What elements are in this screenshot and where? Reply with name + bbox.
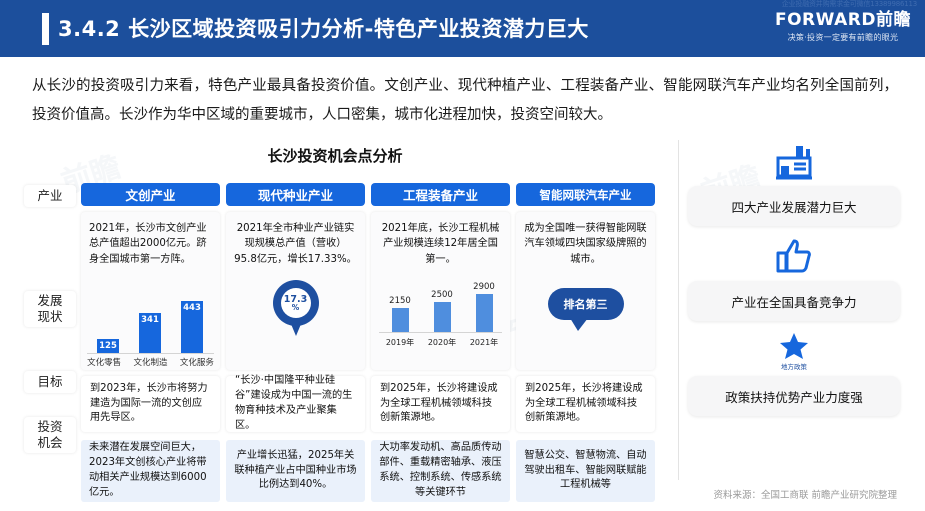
- pin-growth-unit: %: [292, 304, 300, 312]
- brand-name: FORWARD前瞻: [775, 11, 911, 30]
- bar-value-2: 2900: [467, 282, 501, 292]
- status-text: 2021年底，长沙工程机械产业规模连续12年居全国第一。: [379, 221, 502, 267]
- bar-0: [392, 308, 409, 332]
- opportunity-card: 未来潜在发展空间巨大，2023年文创核心产业将带动相关产业规模达到6000亿元。: [81, 440, 220, 502]
- factory-icon: [688, 140, 900, 182]
- pin-inner-value: 17.3 %: [281, 288, 311, 318]
- opportunity-card: 产业增长迅猛，2025年关联种植产业占中国种业市场比例达到40%。: [226, 440, 365, 502]
- bar-chart-machinery-industry: 2150 2500 2900 2019年 2020年 2021年: [379, 274, 502, 348]
- row-label-goal: 目标: [24, 371, 76, 393]
- ranking-badge-wrap: 排名第三: [516, 288, 655, 320]
- vertical-divider: [678, 140, 679, 480]
- bar-value-2: 443: [181, 303, 203, 313]
- row-label-status: 发展现状: [24, 291, 76, 327]
- row-label-opportunity: 投资机会: [24, 417, 76, 453]
- bar-value-1: 2500: [425, 290, 459, 300]
- star-icon-sublabel: 地方政策: [781, 361, 807, 371]
- goal-card: “长沙·中国隆平种业硅谷”建设成为中国一流的生物育种技术及产业聚集区。: [226, 376, 365, 432]
- source-note: 资料来源：全国工商联 前瞻产业研究院整理: [713, 487, 897, 501]
- opportunity-card: 智慧公交、智慧物流、自动驾驶出租车、智能网联赋能工程机械等: [516, 440, 655, 502]
- intro-paragraph: 从长沙的投资吸引力来看，特色产业最具备投资价值。文创产业、现代种植产业、工程装备…: [32, 72, 898, 130]
- industry-header[interactable]: 文创产业: [81, 183, 220, 206]
- section-title: 长沙投资机会点分析: [0, 145, 670, 166]
- investment-opportunity-matrix: 产业 发展现状 目标 投资机会 文创产业 2021年，长沙市文创产业总产值超出2…: [24, 183, 670, 478]
- status-card: 成为全国唯一获得智能网联汽车领域四块国家级牌照的城市。 排名第三: [516, 212, 655, 370]
- category-label-2: 2021年: [467, 337, 501, 348]
- star-icon: 地方政策: [688, 330, 900, 372]
- matrix-column: 文创产业 2021年，长沙市文创产业总产值超出2000亿元。跻身全国城市第一方阵…: [81, 183, 220, 502]
- bar-chart-categories: 文化零售 文化制造 文化服务: [81, 355, 220, 369]
- opportunity-card: 大功率发动机、高品质传动部件、重载精密轴承、液压系统、控制系统、传感系统等关键环…: [371, 440, 510, 502]
- industry-header[interactable]: 现代种业产业: [226, 183, 365, 206]
- bar-value-1: 341: [139, 315, 161, 325]
- thumbs-up-icon: [688, 235, 900, 277]
- chart-axis: [87, 353, 214, 354]
- ranking-badge: 排名第三: [548, 288, 624, 320]
- industry-header[interactable]: 工程装备产业: [371, 183, 510, 206]
- key-takeaways-panel: 四大产业发展潜力巨大 产业在全国具备竞争力 地方政策 政策扶持优势产业力度强: [688, 140, 900, 480]
- takeaway-pill[interactable]: 产业在全国具备竞争力: [688, 281, 900, 321]
- status-text: 2021年全市种业产业链实现规模总产值（营收）95.8亿元，增长17.33%。: [234, 221, 357, 267]
- slide-header: 3.4.2 长沙区域投资吸引力分析-特色产业投资潜力巨大 企业投融资并购需求金可…: [0, 0, 925, 57]
- goal-card: 到2025年，长沙将建设成为全球工程机械领域科技创新策源地。: [516, 376, 655, 432]
- matrix-column: 现代种业产业 2021年全市种业产业链实现规模总产值（营收）95.8亿元，增长1…: [226, 183, 365, 502]
- industry-header[interactable]: 智能网联汽车产业: [516, 183, 655, 206]
- bar-2: [476, 294, 493, 332]
- status-text: 成为全国唯一获得智能网联汽车领域四块国家级牌照的城市。: [524, 221, 647, 267]
- category-label-0: 文化零售: [87, 356, 121, 368]
- header-accent-bar: [42, 13, 49, 45]
- takeaway-pill[interactable]: 政策扶持优势产业力度强: [688, 376, 900, 416]
- category-label-1: 2020年: [425, 337, 459, 348]
- brand-tagline: 决策·投资一定要有前瞻的眼光: [775, 32, 911, 43]
- row-label-industry: 产业: [24, 185, 76, 207]
- bar-value-0: 2150: [383, 296, 417, 306]
- slide-root: 3.4.2 长沙区域投资吸引力分析-特色产业投资潜力巨大 企业投融资并购需求金可…: [0, 0, 925, 511]
- status-card: 2021年，长沙市文创产业总产值超出2000亿元。跻身全国城市第一方阵。 125…: [81, 212, 220, 370]
- takeaway-block: 四大产业发展潜力巨大: [688, 140, 900, 226]
- status-card: 2021年全市种业产业链实现规模总产值（营收）95.8亿元，增长17.33%。 …: [226, 212, 365, 370]
- bar-chart-cultural-industry: 125 341 443: [87, 274, 214, 354]
- category-label-1: 文化制造: [133, 356, 167, 368]
- page-title: 3.4.2 长沙区域投资吸引力分析-特色产业投资潜力巨大: [58, 13, 589, 43]
- matrix-column: 智能网联汽车产业 成为全国唯一获得智能网联汽车领域四块国家级牌照的城市。 排名第…: [516, 183, 655, 502]
- bar-value-0: 125: [97, 341, 119, 351]
- chart-axis: [379, 332, 502, 333]
- goal-card: 到2025年，长沙将建设成为全球工程机械领域科技创新策源地。: [371, 376, 510, 432]
- matrix-column: 工程装备产业 2021年底，长沙工程机械产业规模连续12年居全国第一。 2150…: [371, 183, 510, 502]
- takeaway-pill[interactable]: 四大产业发展潜力巨大: [688, 186, 900, 226]
- header-micro-text: 企业投融资并购需求金可微信13389986113: [782, 0, 917, 9]
- category-label-2: 文化服务: [180, 356, 214, 368]
- category-label-0: 2019年: [383, 337, 417, 348]
- takeaway-block: 地方政策 政策扶持优势产业力度强: [688, 330, 900, 416]
- location-pin-wrap: 17.3 %: [226, 280, 365, 338]
- takeaway-block: 产业在全国具备竞争力: [688, 235, 900, 321]
- status-text: 2021年，长沙市文创产业总产值超出2000亿元。跻身全国城市第一方阵。: [89, 221, 212, 267]
- status-card: 2021年底，长沙工程机械产业规模连续12年居全国第一。 2150 2500 2…: [371, 212, 510, 370]
- goal-card: 到2023年，长沙市将努力建造为国际一流的文创应用先导区。: [81, 376, 220, 432]
- brand-logo: FORWARD前瞻 决策·投资一定要有前瞻的眼光: [775, 11, 911, 43]
- map-pin-icon: 17.3 %: [273, 280, 319, 338]
- bar-1: [434, 302, 451, 332]
